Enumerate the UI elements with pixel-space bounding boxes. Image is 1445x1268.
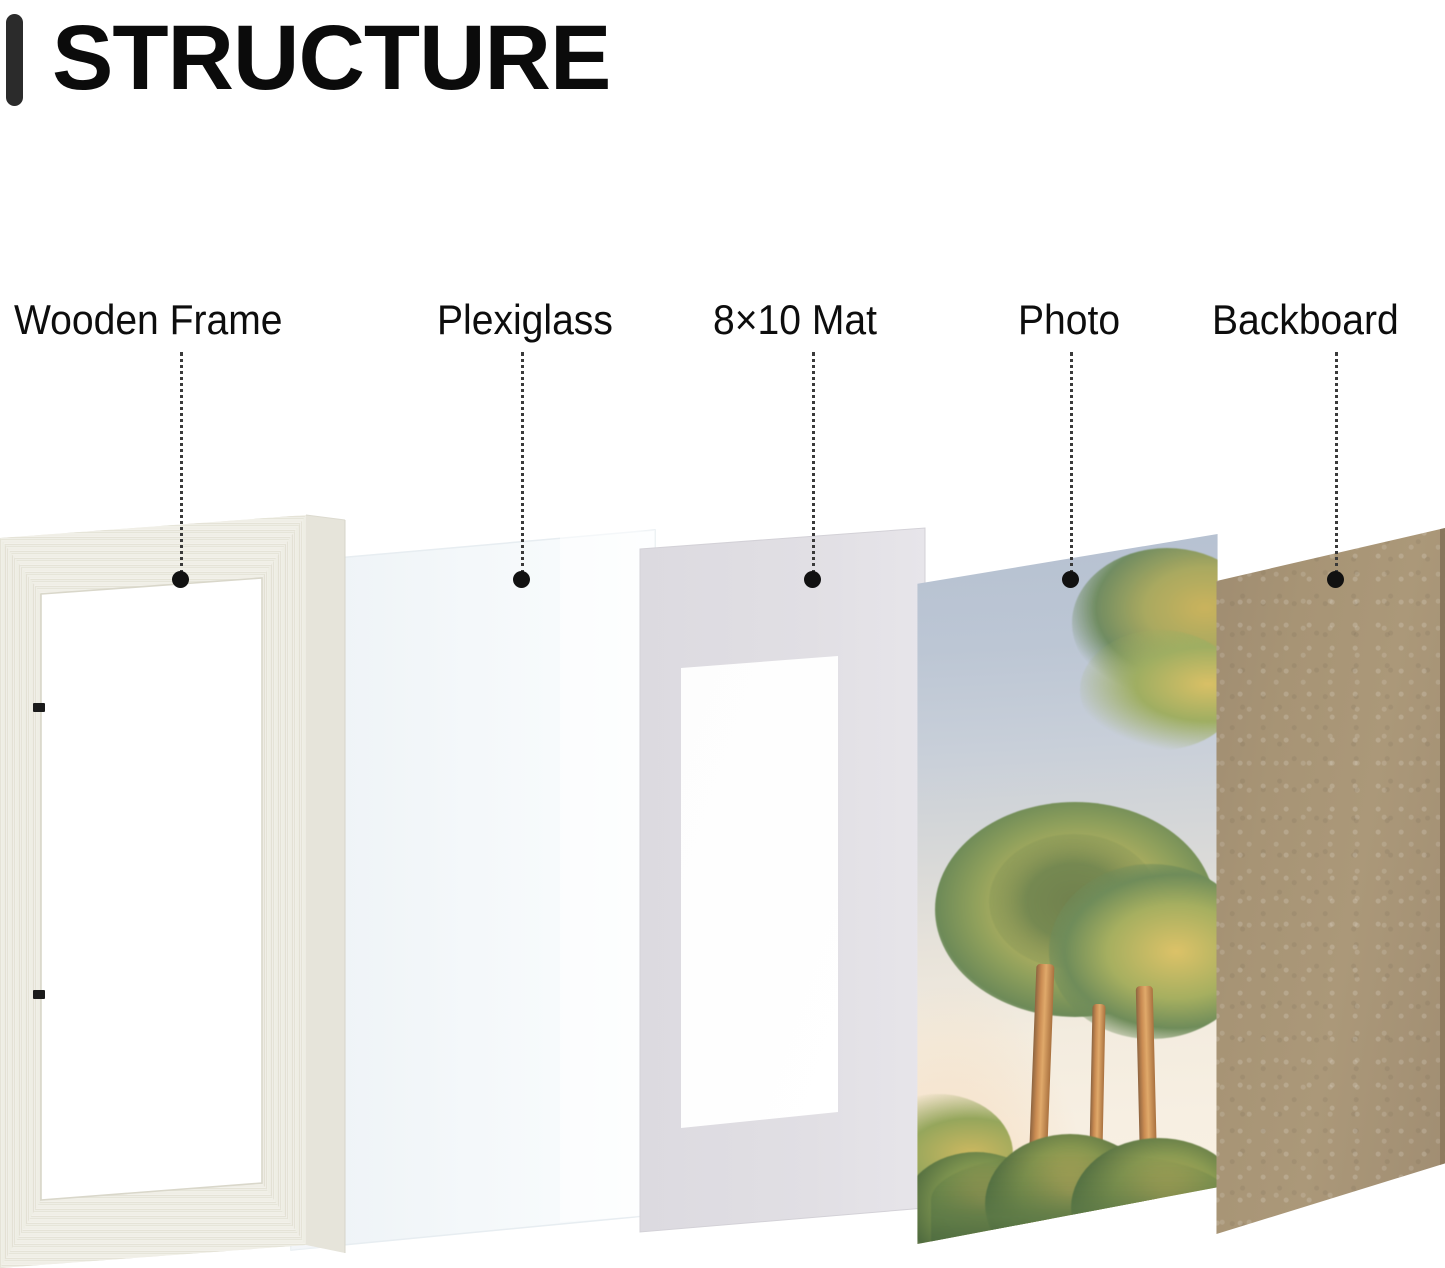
leader-line-photo — [1070, 352, 1073, 574]
layer-plexiglass — [291, 530, 655, 1250]
leader-dot-mat — [804, 571, 821, 588]
label-backboard: Backboard — [1212, 296, 1399, 344]
layer-wooden-frame — [0, 515, 345, 1268]
leader-dot-wooden-frame — [172, 571, 189, 588]
layer-mat — [640, 528, 925, 1232]
leader-dot-photo — [1062, 571, 1079, 588]
layer-backboard — [1213, 528, 1445, 1234]
infographic-canvas: STRUCTURE — [0, 0, 1445, 1268]
leader-line-backboard — [1335, 352, 1338, 574]
layer-photo — [915, 534, 1220, 1244]
label-wooden-frame: Wooden Frame — [14, 296, 282, 344]
leader-dot-backboard — [1327, 571, 1344, 588]
leader-line-mat — [812, 352, 815, 574]
label-photo: Photo — [1018, 296, 1120, 344]
leader-line-wooden-frame — [180, 352, 183, 574]
frame-clip-lower — [33, 990, 45, 999]
leader-dot-plexiglass — [513, 571, 530, 588]
frame-clip-upper — [33, 703, 45, 712]
leader-line-plexiglass — [521, 352, 524, 574]
backboard-edge — [1440, 528, 1445, 1234]
label-plexiglass: Plexiglass — [437, 296, 613, 344]
label-mat: 8×10 Mat — [713, 296, 877, 344]
